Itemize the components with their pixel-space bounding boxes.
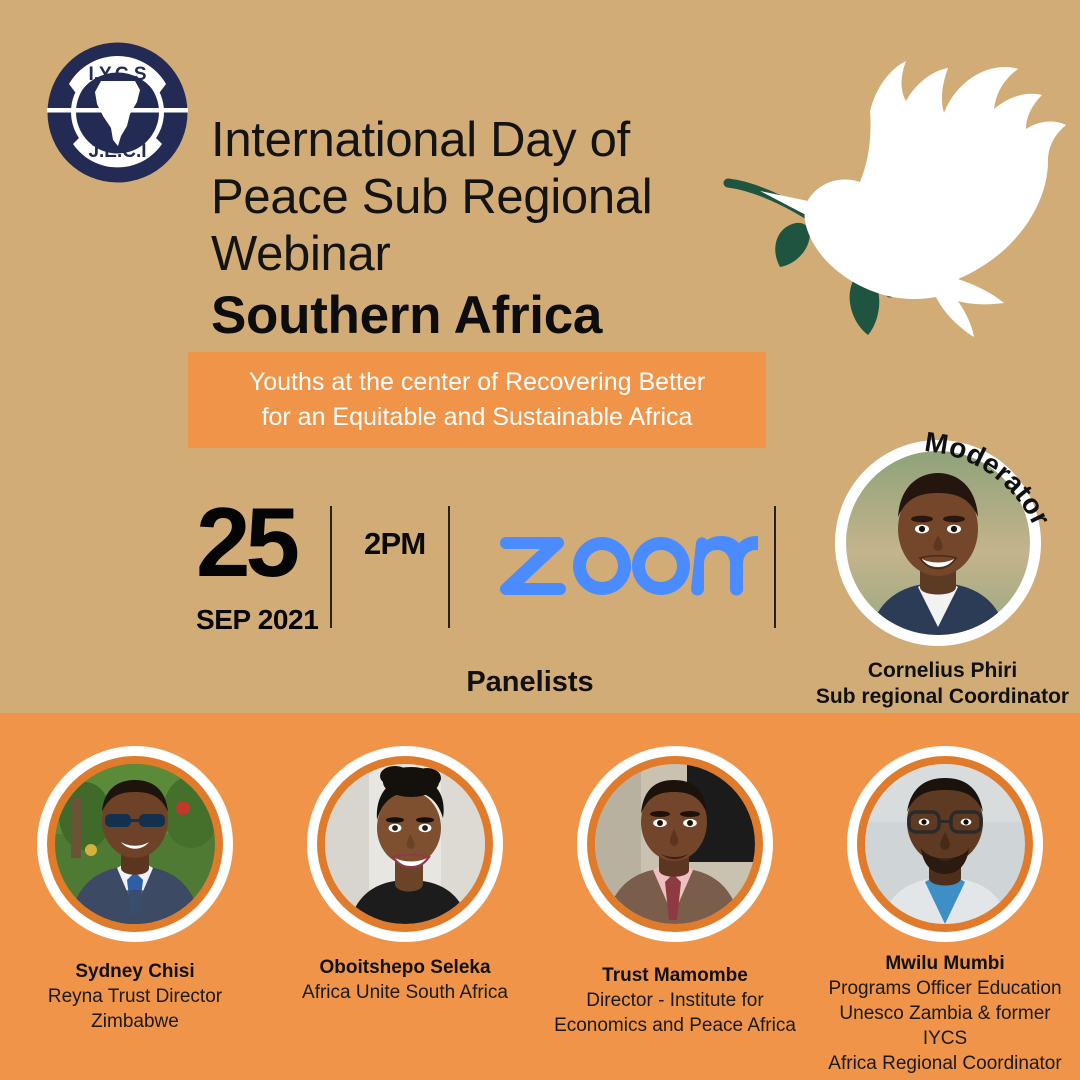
dove-beak	[760, 191, 808, 215]
zoom-logo-icon	[498, 517, 758, 603]
panelist-role-line-1: Africa Unite South Africa	[277, 980, 533, 1005]
panelist-avatar	[595, 764, 755, 924]
panelist-role-line-2: Economics and Peace Africa	[547, 1013, 803, 1038]
event-time-label: 2PM	[364, 526, 425, 562]
panelist-caption: Mwilu Mumbi Programs Officer Education U…	[817, 951, 1073, 1076]
title-region: Southern Africa	[211, 285, 741, 347]
moderator-avatar	[846, 451, 1030, 635]
peace-dove-illustration	[700, 35, 1080, 365]
event-info-strip: 25 SEP 2021 2PM	[196, 498, 782, 638]
panelist-card: Mwilu Mumbi Programs Officer Education U…	[810, 746, 1080, 1076]
title-line-3: Webinar	[211, 226, 741, 283]
panelist-name: Oboitshepo Seleka	[277, 955, 533, 980]
panelist-avatar	[325, 764, 485, 924]
logo-icon: I.Y.C.S J.E.C.I	[45, 40, 190, 185]
panelist-photo	[37, 746, 233, 942]
theme-line-2: for an Equitable and Sustainable Africa	[262, 400, 693, 435]
poster-canvas: I.Y.C.S J.E.C.I International Day of Pea…	[0, 0, 1080, 1080]
avatar-image	[595, 764, 755, 924]
event-month-year: SEP 2021	[196, 604, 326, 636]
panelist-card: Sydney Chisi Reyna Trust Director Zimbab…	[0, 746, 270, 1076]
moderator-block: Moderator Cornelius Phiri Sub regional C…	[820, 440, 1065, 646]
divider-rule-2	[448, 506, 450, 628]
panelist-photo	[577, 746, 773, 942]
panelist-avatar	[865, 764, 1025, 924]
iycs-jeci-logo: I.Y.C.S J.E.C.I	[45, 40, 190, 185]
event-date: 25 SEP 2021	[196, 498, 326, 636]
divider-rule-3	[774, 506, 776, 628]
panelist-card: Trust Mamombe Director - Institute for E…	[540, 746, 810, 1076]
panelist-role-line-3: Africa Regional Coordinator	[817, 1051, 1073, 1076]
panelist-avatar	[55, 764, 215, 924]
event-time: 2PM	[364, 526, 425, 562]
panelist-role-line-1: Director - Institute for	[547, 988, 803, 1013]
panelist-role-line-1: Programs Officer Education	[817, 976, 1073, 1001]
zoom-platform-logo	[494, 510, 762, 610]
title-line-1: International Day of	[211, 112, 741, 169]
panelist-caption: Oboitshepo Seleka Africa Unite South Afr…	[277, 955, 533, 1005]
olive-leaf-1	[775, 223, 810, 267]
panelist-role-line-2: Unesco Zambia & former IYCS	[817, 1001, 1073, 1051]
panelist-name: Mwilu Mumbi	[817, 951, 1073, 976]
panelist-card: Oboitshepo Seleka Africa Unite South Afr…	[270, 746, 540, 1076]
panelist-name: Sydney Chisi	[7, 959, 263, 984]
dove-icon	[700, 35, 1080, 365]
title-line-2: Peace Sub Regional	[211, 169, 741, 226]
panelists-row: Sydney Chisi Reyna Trust Director Zimbab…	[0, 746, 1080, 1076]
panelists-heading: Panelists	[0, 666, 1060, 699]
panelist-caption: Sydney Chisi Reyna Trust Director Zimbab…	[7, 959, 263, 1034]
theme-line-1: Youths at the center of Recovering Bette…	[249, 365, 705, 400]
event-day: 25	[196, 498, 326, 586]
moderator-photo: Moderator	[835, 440, 1041, 646]
panelist-photo	[847, 746, 1043, 942]
logo-bottom-text: J.E.C.I	[88, 141, 146, 162]
panelist-name: Trust Mamombe	[547, 963, 803, 988]
theme-banner: Youths at the center of Recovering Bette…	[188, 352, 766, 448]
panelist-photo	[307, 746, 503, 942]
dove-body	[805, 61, 1066, 337]
panelist-caption: Trust Mamombe Director - Institute for E…	[547, 963, 803, 1038]
avatar-image	[846, 451, 1030, 635]
logo-top-text: I.Y.C.S	[88, 64, 146, 85]
avatar-image	[55, 764, 215, 924]
divider-rule-1	[330, 506, 332, 628]
panelist-role-line-2: Zimbabwe	[7, 1009, 263, 1034]
page-title: International Day of Peace Sub Regional …	[211, 112, 741, 347]
panelist-role-line-1: Reyna Trust Director	[7, 984, 263, 1009]
avatar-image	[325, 764, 485, 924]
avatar-image	[865, 764, 1025, 924]
